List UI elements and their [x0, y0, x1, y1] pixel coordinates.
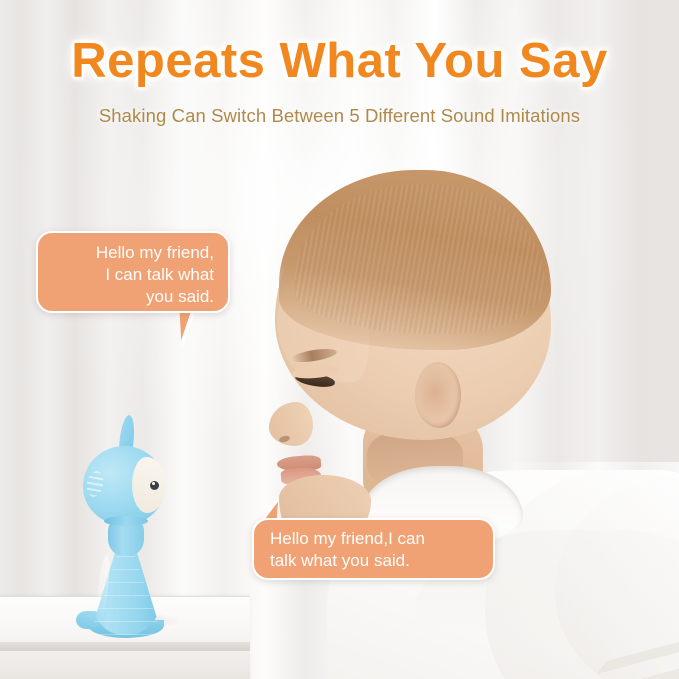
- toy-face-patch: [132, 457, 166, 513]
- rattle-toy: [70, 415, 180, 630]
- baby-bubble-line: talk what you said.: [270, 550, 493, 572]
- table-edge: [0, 642, 250, 651]
- baby-ear-inner: [426, 377, 448, 413]
- toy-bubble-line: I can talk what: [50, 264, 214, 286]
- toy-bubble-line: Hello my friend,: [50, 242, 214, 264]
- toy-speech-bubble: Hello my friend, I can talk what you sai…: [36, 231, 230, 313]
- table-underside: [0, 651, 250, 679]
- toy-bubble-line: you said.: [50, 286, 214, 308]
- baby-figure: [255, 170, 679, 679]
- baby-bubble-line: Hello my friend,I can: [270, 528, 493, 550]
- page-subtitle: Shaking Can Switch Between 5 Different S…: [0, 105, 679, 127]
- product-marketing-image: Repeats What You Say Shaking Can Switch …: [0, 0, 679, 679]
- toy-collar: [104, 516, 148, 526]
- page-title: Repeats What You Say: [0, 33, 679, 89]
- toy-eye-highlight: [152, 482, 155, 485]
- baby-speech-bubble: Hello my friend,I can talk what you said…: [252, 518, 495, 580]
- baby-nose: [269, 402, 313, 446]
